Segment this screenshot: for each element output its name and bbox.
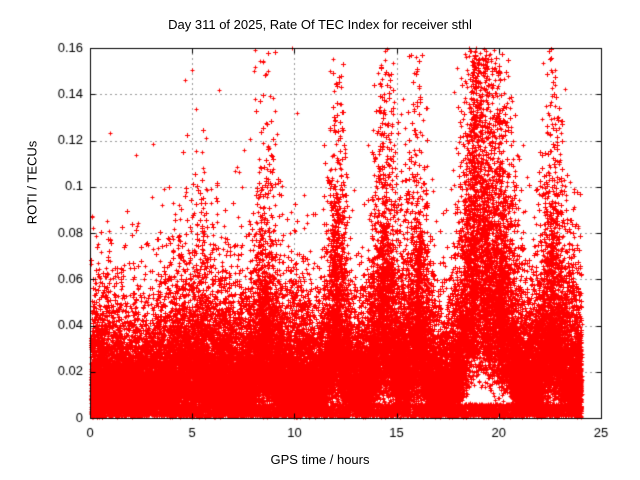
scatter-plot-canvas bbox=[0, 0, 640, 480]
page-title: Day 311 of 2025, Rate Of TEC Index for r… bbox=[0, 17, 640, 32]
plot-canvas-container bbox=[0, 0, 640, 480]
y-axis-label: ROTI / TECUs bbox=[25, 103, 40, 263]
roti-scatter-figure: Day 311 of 2025, Rate Of TEC Index for r… bbox=[0, 0, 640, 480]
x-axis-label: GPS time / hours bbox=[0, 452, 640, 467]
